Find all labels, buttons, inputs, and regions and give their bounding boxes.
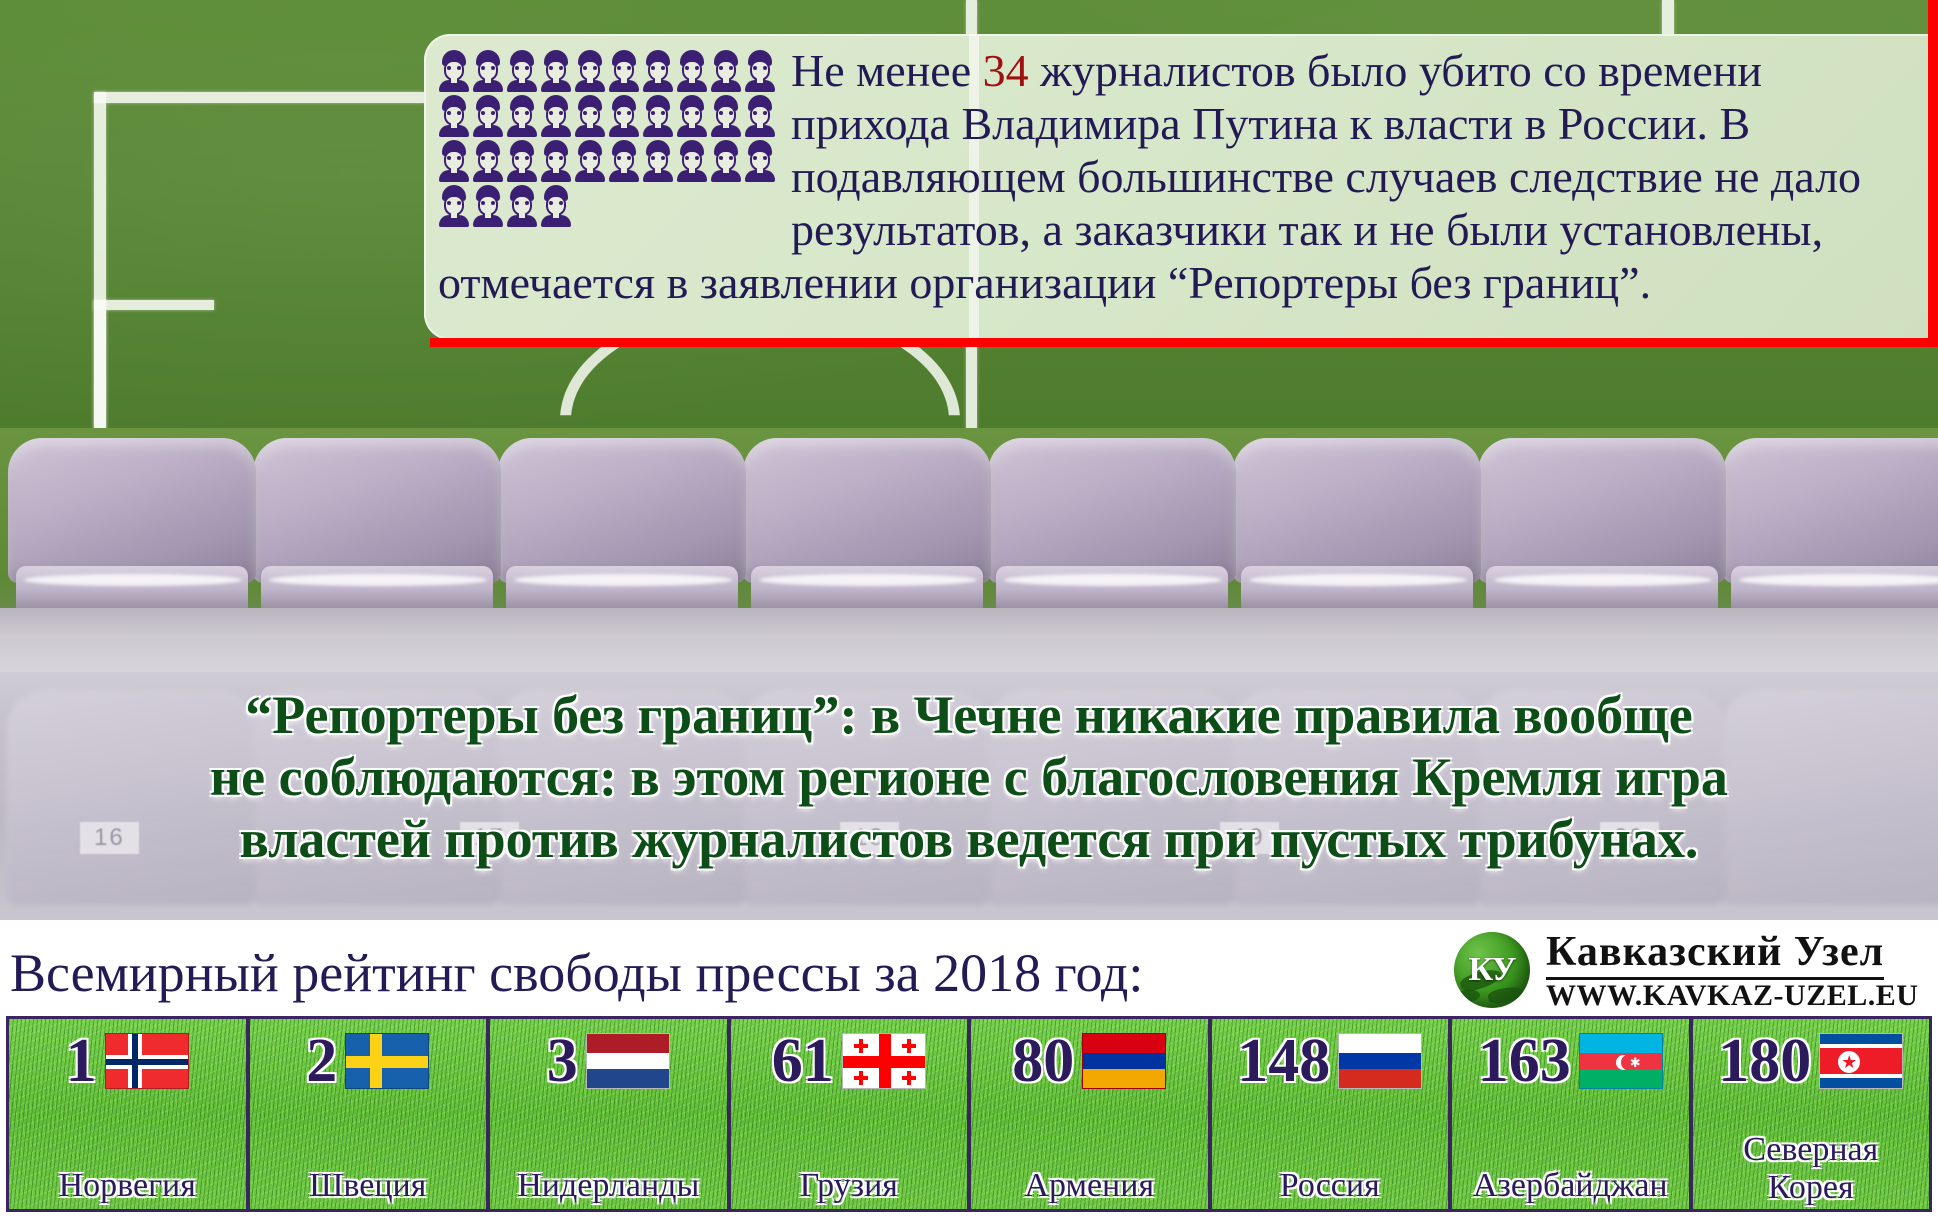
rank-cell-top: 1	[9, 1023, 246, 1099]
journalist-icon-grid	[438, 50, 783, 230]
country-name: Армения	[971, 1167, 1208, 1205]
logo-website-url: WWW.KAVKAZ-UZEL.EU	[1546, 979, 1918, 1013]
country-name: Азербайджан	[1452, 1167, 1689, 1205]
rank-number: 148	[1237, 1030, 1330, 1092]
statistic-callout-box: Не менее 34 журналистов было убито со вр…	[424, 34, 1938, 340]
journalist-person-icon	[438, 50, 470, 92]
country-name: Норвегия	[9, 1167, 246, 1205]
journalist-person-icon	[472, 185, 504, 227]
journalist-person-icon	[608, 50, 640, 92]
rank-cell[interactable]: 163✱Азербайджан	[1452, 1019, 1689, 1209]
rank-number: 180	[1718, 1030, 1811, 1092]
journalist-person-icon	[574, 95, 606, 137]
country-ranking-strip: 1Норвегия2Швеция3Нидерланды61Грузия80Арм…	[6, 1016, 1932, 1212]
country-name: СевернаяКорея	[1693, 1131, 1930, 1207]
armenia-flag	[1082, 1033, 1166, 1089]
caption-band: “Репортеры без границ”: в Чечне никакие …	[0, 672, 1938, 920]
rank-cell-top: 148	[1212, 1023, 1449, 1099]
rank-number: 61	[772, 1030, 834, 1092]
journalist-person-icon	[540, 140, 572, 182]
journalist-person-icon	[744, 95, 776, 137]
journalist-person-icon	[676, 95, 708, 137]
field-line-left-horizontal	[94, 92, 424, 103]
rank-cell-top: 2	[250, 1023, 487, 1099]
journalist-person-icon	[506, 140, 538, 182]
country-name: Грузия	[731, 1167, 968, 1205]
journalist-person-icon	[540, 95, 572, 137]
country-name: Россия	[1212, 1167, 1449, 1205]
rank-number: 1	[66, 1030, 97, 1092]
journalist-person-icon	[472, 140, 504, 182]
journalist-person-icon	[642, 95, 674, 137]
sweden-flag	[345, 1033, 429, 1089]
rank-number: 2	[306, 1030, 337, 1092]
rank-cell-top: 80	[971, 1023, 1208, 1099]
logo-brand-name: Кавказский Узел	[1546, 928, 1884, 980]
kavkaz-uzel-logo[interactable]: КУ Кавказский Узел WWW.KAVKAZ-UZEL.EU	[1454, 922, 1924, 1016]
rank-cell[interactable]: 80Армения	[971, 1019, 1208, 1209]
journalist-person-icon	[438, 185, 470, 227]
caption-line-3: властей против журналистов ведется при п…	[26, 808, 1912, 870]
azerbaijan-flag: ✱	[1579, 1033, 1663, 1089]
rank-cell[interactable]: 180★СевернаяКорея	[1693, 1019, 1930, 1209]
caption-line-2: не соблюдаются: в этом регионе с благосл…	[26, 746, 1912, 808]
rank-number: 80	[1012, 1030, 1074, 1092]
rank-number: 3	[547, 1030, 578, 1092]
journalist-person-icon	[506, 95, 538, 137]
press-freedom-rating-section: Всемирный рейтинг свободы прессы за 2018…	[0, 920, 1938, 1227]
logo-monogram: КУ	[1454, 932, 1530, 1008]
netherlands-flag	[586, 1033, 670, 1089]
country-name: Швеция	[250, 1167, 487, 1205]
rank-cell-top: 3	[490, 1023, 727, 1099]
journalist-person-icon	[506, 185, 538, 227]
journalist-person-icon	[472, 95, 504, 137]
field-line-goal-box-top	[94, 300, 214, 310]
stadium-photo-section: Не менее 34 журналистов было убито со вр…	[0, 0, 1938, 920]
callout-highlight-number: 34	[983, 45, 1029, 96]
rank-cell-top: 61	[731, 1023, 968, 1099]
journalist-person-icon	[438, 140, 470, 182]
country-name: Нидерланды	[490, 1167, 727, 1205]
journalist-person-icon	[540, 185, 572, 227]
rank-cell[interactable]: 3Нидерланды	[490, 1019, 727, 1209]
journalist-person-icon	[642, 140, 674, 182]
north-korea-flag: ★	[1819, 1033, 1903, 1089]
callout-text: Не менее 34 журналистов было убито со вр…	[438, 44, 1920, 309]
journalist-person-icon	[574, 50, 606, 92]
journalist-person-icon	[676, 140, 708, 182]
rank-number: 163	[1478, 1030, 1571, 1092]
journalist-person-icon	[540, 50, 572, 92]
georgia-flag	[842, 1033, 926, 1089]
rank-cell-top: 180★	[1693, 1023, 1930, 1099]
journalist-person-icon	[506, 50, 538, 92]
journalist-person-icon	[608, 140, 640, 182]
rating-title: Всемирный рейтинг свободы прессы за 2018…	[10, 942, 1143, 1004]
rank-cell[interactable]: 2Швеция	[250, 1019, 487, 1209]
caption-line-1: “Репортеры без границ”: в Чечне никакие …	[26, 684, 1912, 746]
journalist-person-icon	[710, 95, 742, 137]
journalist-person-icon	[438, 95, 470, 137]
rating-header: Всемирный рейтинг свободы прессы за 2018…	[0, 920, 1938, 1016]
rank-cell[interactable]: 1Норвегия	[9, 1019, 246, 1209]
journalist-person-icon	[472, 50, 504, 92]
headline-caption: “Репортеры без границ”: в Чечне никакие …	[0, 684, 1938, 870]
journalist-person-icon	[744, 50, 776, 92]
journalist-person-icon	[710, 140, 742, 182]
journalist-person-icon	[574, 140, 606, 182]
stand-floor	[0, 608, 1938, 678]
red-border-right	[1928, 0, 1938, 346]
journalist-person-icon	[608, 95, 640, 137]
journalist-person-icon	[676, 50, 708, 92]
stadium-seats-row	[0, 428, 1938, 678]
callout-text-before: Не менее	[791, 45, 983, 96]
journalist-person-icon	[642, 50, 674, 92]
rank-cell-top: 163✱	[1452, 1023, 1689, 1099]
field-line-goal-box-left	[94, 300, 106, 432]
journalist-person-icon	[710, 50, 742, 92]
russia-flag	[1338, 1033, 1422, 1089]
norway-flag	[105, 1033, 189, 1089]
journalist-person-icon	[744, 140, 776, 182]
rank-cell[interactable]: 148Россия	[1212, 1019, 1449, 1209]
red-border-bottom	[430, 338, 1938, 347]
rank-cell[interactable]: 61Грузия	[731, 1019, 968, 1209]
